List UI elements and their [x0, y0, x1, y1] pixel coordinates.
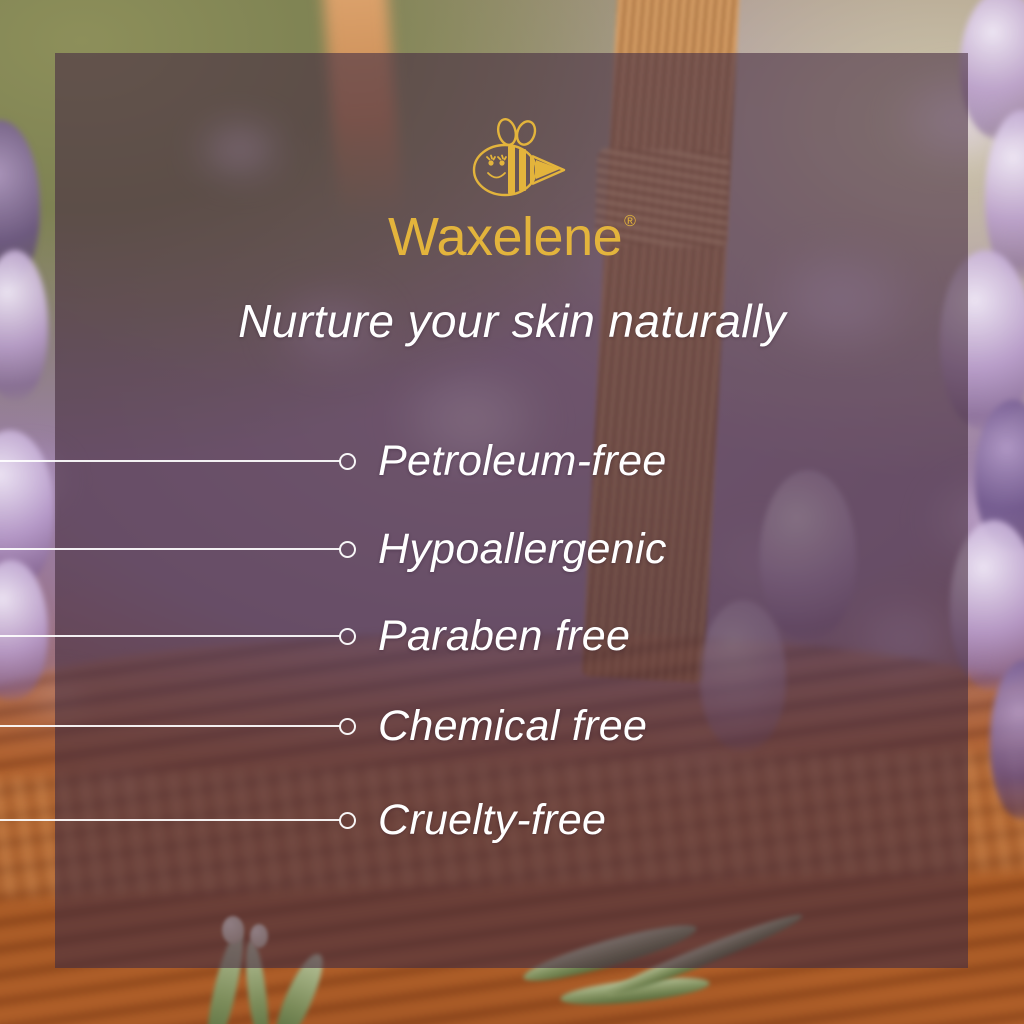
- leader-line: [0, 819, 340, 821]
- feature-label: Chemical free: [378, 702, 647, 751]
- leader-line: [0, 460, 340, 462]
- list-item: Cruelty-free: [0, 790, 1024, 850]
- tagline: Nurture your skin naturally: [0, 294, 1024, 348]
- bullet-circle-icon: [339, 812, 356, 829]
- feature-label: Petroleum-free: [378, 437, 667, 486]
- brand-name: Waxelene: [388, 210, 622, 264]
- bee-icon: [452, 118, 572, 204]
- promo-image: Waxelene ® Nurture your skin naturally P…: [0, 0, 1024, 1024]
- bullet-circle-icon: [339, 718, 356, 735]
- registered-trademark-icon: ®: [624, 214, 636, 230]
- feature-label: Paraben free: [378, 612, 630, 661]
- brand-logo: Waxelene ®: [0, 118, 1024, 264]
- bullet-circle-icon: [339, 541, 356, 558]
- leader-line: [0, 725, 340, 727]
- list-item: Chemical free: [0, 696, 1024, 756]
- leader-line: [0, 635, 340, 637]
- bullet-circle-icon: [339, 628, 356, 645]
- list-item: Petroleum-free: [0, 431, 1024, 491]
- leader-line: [0, 548, 340, 550]
- feature-label: Hypoallergenic: [378, 525, 667, 574]
- bullet-circle-icon: [339, 453, 356, 470]
- list-item: Paraben free: [0, 606, 1024, 666]
- feature-label: Cruelty-free: [378, 796, 606, 845]
- list-item: Hypoallergenic: [0, 519, 1024, 579]
